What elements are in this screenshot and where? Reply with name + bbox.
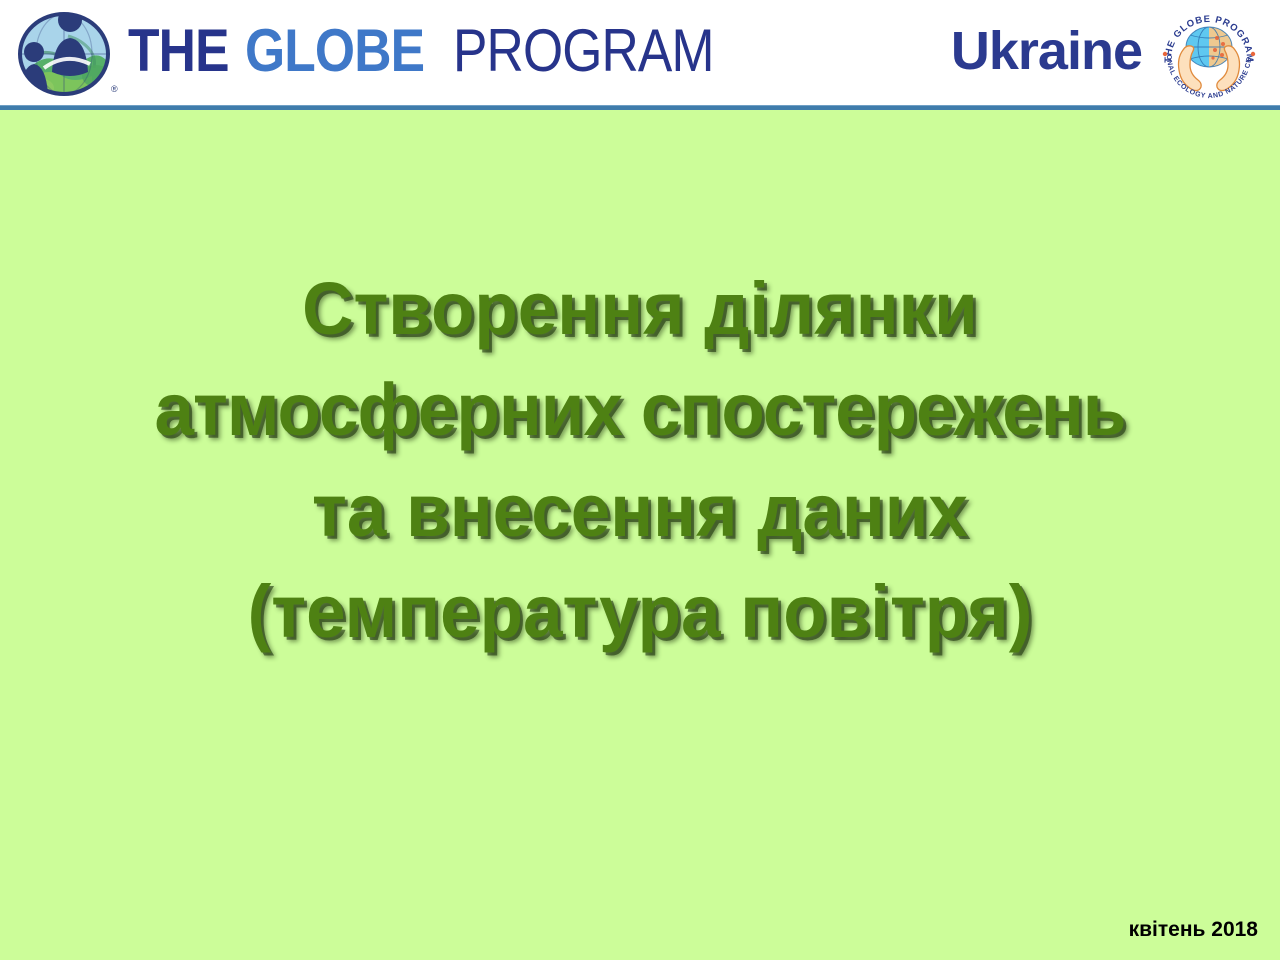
title-line-2: атмосферних спостережень xyxy=(26,359,1255,460)
title-line-4: (температура повітря) xyxy=(26,561,1255,662)
footer-date: квітень 2018 xyxy=(1129,918,1258,942)
presentation-slide: ® THE GLOBE PROGRAM Ukraine xyxy=(0,0,1280,960)
country-name: Ukraine xyxy=(951,20,1142,82)
globe-program-logo-icon: ® xyxy=(8,6,120,100)
title-line-3: та внесення даних xyxy=(26,460,1255,561)
title-line-1: Створення ділянки xyxy=(26,258,1255,359)
wordmark-the: THE xyxy=(128,21,229,81)
national-ecology-nature-center-seal-icon: THE GLOBE PROGRAM NATIONAL ECOLOGY AND N… xyxy=(1157,2,1261,106)
slide-header: ® THE GLOBE PROGRAM Ukraine xyxy=(0,0,1280,105)
wordmark-program: PROGRAM xyxy=(453,21,714,81)
svg-text:®: ® xyxy=(111,84,118,94)
wordmark-globe: GLOBE xyxy=(245,21,424,81)
header-divider xyxy=(0,105,1280,110)
slide-title: Створення ділянки атмосферних спостереже… xyxy=(0,258,1280,662)
globe-program-wordmark: THE GLOBE PROGRAM xyxy=(128,14,756,88)
